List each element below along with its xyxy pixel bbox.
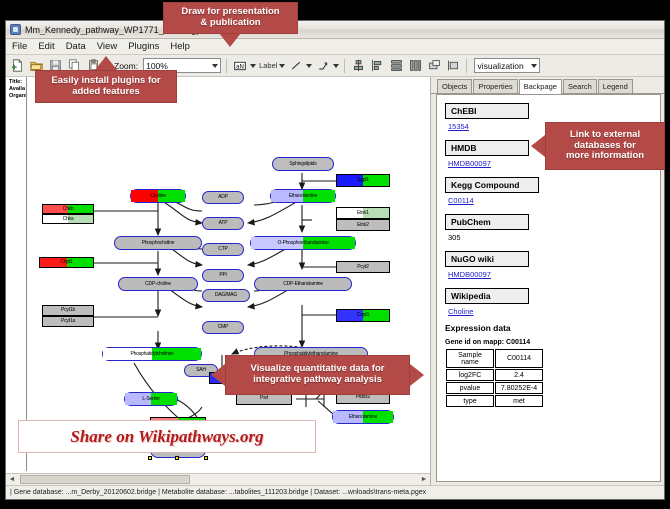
menu-item-plugins[interactable]: Plugins bbox=[127, 41, 160, 52]
expression-table: Sample name C00114 log2FC 2.4 pvalue 7.8… bbox=[445, 348, 544, 408]
node-label: DAG/MAG bbox=[203, 293, 249, 298]
node-label: Choline bbox=[131, 194, 185, 199]
cell-value: 7.80252E-4 bbox=[495, 382, 543, 394]
label-dropdown[interactable]: Label bbox=[259, 61, 285, 70]
tab-search[interactable]: Search bbox=[563, 79, 597, 93]
section-title-kegg: Kegg Compound bbox=[445, 177, 539, 193]
callout-link-arrow-icon bbox=[531, 135, 545, 157]
callout-visualize-arrow-right-icon bbox=[410, 364, 424, 386]
resize-handle[interactable] bbox=[175, 456, 179, 460]
callout-visualize-quantitative-data: Visualize quantitative data for integrat… bbox=[225, 355, 410, 395]
node-label: CDP-choline bbox=[119, 282, 197, 287]
callout-line-2: integrative pathway analysis bbox=[251, 375, 385, 386]
node-label: CDP-Ethanolamine bbox=[255, 282, 351, 287]
title-bar: Mm_Kennedy_pathway_WP1771_45176.gpml - P… bbox=[6, 21, 664, 39]
cell-key: Sample name bbox=[446, 349, 494, 368]
pubchem-value: 305 bbox=[448, 233, 660, 242]
align-left-icon[interactable] bbox=[369, 58, 385, 74]
tab-properties[interactable]: Properties bbox=[473, 79, 517, 93]
distribute-vertical-icon[interactable] bbox=[388, 58, 404, 74]
node-label: Chkb bbox=[43, 207, 93, 212]
node-label: ADP bbox=[203, 195, 243, 200]
scroll-right-arrow[interactable]: ► bbox=[418, 476, 430, 483]
callout-share-on-wikipathways: Share on Wikipathways.org bbox=[18, 420, 316, 453]
line-tool-dropdown[interactable] bbox=[288, 58, 312, 74]
metabolite-node-adp[interactable]: ADP bbox=[202, 191, 244, 204]
metabolite-node-cmp[interactable]: CMP bbox=[202, 321, 244, 334]
node-label: Cept1 bbox=[337, 313, 389, 318]
callout-plugins-arrow-icon bbox=[95, 56, 117, 70]
cell-key: log2FC bbox=[446, 369, 494, 381]
nugo-link[interactable]: HMDB00097 bbox=[448, 270, 660, 279]
gene-node-pcyt2[interactable]: Pcyt2 bbox=[336, 261, 390, 273]
expression-data-heading: Expression data bbox=[445, 323, 660, 333]
section-title-chebi: ChEBI bbox=[445, 103, 529, 119]
table-row: type met bbox=[446, 395, 543, 407]
datanode-dropdown[interactable]: aN bbox=[232, 58, 256, 74]
callout-draw-for-presentation: Draw for presentation & publication bbox=[163, 2, 298, 34]
data-node-icon: aN bbox=[232, 58, 248, 74]
metabolite-node[interactable]: Sphingolipids bbox=[272, 157, 334, 171]
status-bar: | Gene database: ...m_Derby_20120602.bri… bbox=[6, 485, 664, 499]
metabolite-node-cdp-choline[interactable]: CDP-choline bbox=[118, 277, 198, 291]
metabolite-node-cdp-ethanolamine[interactable]: CDP-Ethanolamine bbox=[254, 277, 352, 291]
node-label: Chka bbox=[43, 217, 93, 222]
chevron-down-icon bbox=[212, 64, 218, 68]
menu-item-edit[interactable]: Edit bbox=[37, 41, 55, 52]
cell-value: C00114 bbox=[495, 349, 543, 368]
node-label: PPi bbox=[203, 273, 243, 278]
section-title-pubchem: PubChem bbox=[445, 214, 529, 230]
menu-item-help[interactable]: Help bbox=[169, 41, 191, 52]
node-label: ATP bbox=[203, 221, 243, 226]
gene-node-etnk2[interactable]: Etnk2 bbox=[336, 219, 390, 231]
metabolite-node-ethanolamine[interactable]: Ethanolamine bbox=[270, 189, 336, 203]
app-icon bbox=[10, 24, 21, 35]
callout-visualize-arrow-left-icon bbox=[211, 364, 225, 386]
visualization-value: visualization bbox=[477, 61, 523, 71]
line-tool-icon bbox=[288, 58, 304, 74]
node-label: L-Serine bbox=[125, 397, 177, 402]
scroll-left-arrow[interactable]: ◄ bbox=[6, 476, 18, 483]
metabolite-node-l-serine-left[interactable]: L-Serine bbox=[124, 392, 178, 406]
toolbar-separator bbox=[226, 59, 227, 73]
gene-id-on-mapp: Gene id on mapp: C00114 bbox=[445, 339, 660, 346]
gene-node-sgpl1[interactable]: Sgpl1 bbox=[336, 174, 390, 187]
node-label: Pcyt2 bbox=[337, 265, 389, 270]
node-label: Psd bbox=[237, 396, 291, 401]
toolbar-separator bbox=[466, 59, 467, 73]
callout-easily-install-plugins: Easily install plugins for added feature… bbox=[35, 70, 177, 103]
screenshot-root: Mm_Kennedy_pathway_WP1771_45176.gpml - P… bbox=[0, 0, 670, 509]
metabolite-node-ppi[interactable]: PPi bbox=[202, 269, 244, 282]
cell-value: 2.4 bbox=[495, 369, 543, 381]
menu-item-data[interactable]: Data bbox=[65, 41, 87, 52]
align-center-icon[interactable] bbox=[350, 58, 366, 74]
menu-bar: File Edit Data View Plugins Help bbox=[6, 39, 664, 55]
send-to-back-icon[interactable] bbox=[445, 58, 461, 74]
node-label: Sgpl1 bbox=[337, 178, 389, 183]
table-row: log2FC 2.4 bbox=[446, 369, 543, 381]
gene-node-chpt1[interactable]: Chpt1 bbox=[39, 257, 94, 268]
node-label: O-Phosphoethanolamine bbox=[251, 241, 355, 246]
side-panel-tabs: Objects Properties Backpage Search Legen… bbox=[431, 77, 664, 94]
toolbar-separator bbox=[344, 59, 345, 73]
menu-item-view[interactable]: View bbox=[96, 41, 118, 52]
node-label: Chpt1 bbox=[40, 260, 93, 265]
callout-line-2: added features bbox=[51, 87, 160, 98]
wikipedia-link[interactable]: Choline bbox=[448, 307, 660, 316]
cell-key: pvalue bbox=[446, 382, 494, 394]
callout-link-to-external-databases: Link to external databases for more info… bbox=[545, 122, 665, 170]
resize-handle[interactable] bbox=[204, 456, 208, 460]
common-width-icon[interactable] bbox=[407, 58, 423, 74]
metabolite-node-o-phosphoethanolamine[interactable]: O-Phosphoethanolamine bbox=[250, 236, 356, 250]
metabolite-node-choline[interactable]: Choline bbox=[130, 189, 186, 203]
metabolite-node-ethanolamine-bottom[interactable]: Ethanolamine bbox=[332, 410, 394, 424]
metabolite-node-dagmag[interactable]: DAG/MAG bbox=[202, 289, 250, 302]
kegg-link[interactable]: C00114 bbox=[448, 196, 660, 205]
node-label: Etnk2 bbox=[337, 223, 389, 228]
table-row: pvalue 7.80252E-4 bbox=[446, 382, 543, 394]
chevron-down-icon bbox=[279, 64, 285, 68]
gene-node-chkb[interactable]: Chkb bbox=[42, 204, 94, 214]
node-label: Phosphocholine bbox=[115, 241, 201, 246]
chevron-down-icon bbox=[531, 64, 537, 68]
bring-to-front-icon[interactable] bbox=[426, 58, 442, 74]
callout-line-3: more information bbox=[566, 151, 644, 162]
tab-legend[interactable]: Legend bbox=[598, 79, 633, 93]
node-label: Phosphatidylcholines bbox=[103, 352, 201, 357]
node-label: CTP bbox=[203, 247, 243, 252]
node-label: CMP bbox=[203, 325, 243, 330]
callout-line-2: & publication bbox=[181, 18, 279, 29]
gene-node-pcyt1b[interactable]: Pcyt1b bbox=[42, 305, 94, 316]
node-label: Ethanolamine bbox=[333, 415, 393, 420]
status-text: | Gene database: ...m_Derby_20120602.bri… bbox=[10, 489, 426, 496]
metabolite-node-phosphocholine[interactable]: Phosphocholine bbox=[114, 236, 202, 250]
visualization-combo[interactable]: visualization bbox=[474, 58, 540, 73]
new-document-icon[interactable] bbox=[9, 58, 25, 74]
callout-draw-arrow-icon bbox=[219, 33, 241, 47]
canvas-hscrollbar[interactable]: ◄ ► bbox=[6, 473, 430, 485]
label-dropdown-label: Label bbox=[259, 61, 277, 70]
metabolite-node-phosphatidylcholines[interactable]: Phosphatidylcholines bbox=[102, 347, 202, 361]
chevron-down-icon bbox=[250, 64, 256, 68]
tab-objects[interactable]: Objects bbox=[437, 79, 472, 93]
section-title-hmdb: HMDB bbox=[445, 140, 529, 156]
chevron-down-icon bbox=[306, 64, 312, 68]
menu-item-file[interactable]: File bbox=[11, 41, 28, 52]
node-label: Pcyt1b bbox=[43, 308, 93, 313]
chevron-down-icon bbox=[333, 64, 339, 68]
interaction-tool-icon bbox=[315, 58, 331, 74]
gene-node-cept1[interactable]: Cept1 bbox=[336, 309, 390, 322]
section-title-wikipedia: Wikipedia bbox=[445, 288, 529, 304]
section-title-nugo: NuGO wiki bbox=[445, 251, 529, 267]
node-label: Pcyt1a bbox=[43, 319, 93, 324]
callout-line-1: Easily install plugins for bbox=[51, 76, 160, 87]
gene-node-chka[interactable]: Chka bbox=[42, 214, 94, 224]
metabolite-node-atp[interactable]: ATP bbox=[202, 217, 244, 230]
resize-handle[interactable] bbox=[148, 456, 152, 460]
node-label: Ptdss2 bbox=[337, 395, 389, 400]
metabolite-node-ctp[interactable]: CTP bbox=[202, 243, 244, 256]
interaction-tool-dropdown[interactable] bbox=[315, 58, 339, 74]
share-text: Share on Wikipathways.org bbox=[70, 427, 263, 447]
tab-backpage[interactable]: Backpage bbox=[519, 79, 562, 94]
zoom-label: Zoom: bbox=[114, 61, 138, 71]
node-label: Ethanolamine bbox=[271, 194, 335, 199]
table-row: Sample name C00114 bbox=[446, 349, 543, 368]
node-label: Etnk1 bbox=[337, 211, 389, 216]
hscroll-thumb[interactable] bbox=[20, 475, 190, 484]
zoom-value: 100% bbox=[146, 61, 168, 71]
cell-value: met bbox=[495, 395, 543, 407]
cell-key: type bbox=[446, 395, 494, 407]
node-label: Sphingolipids bbox=[273, 162, 333, 167]
gene-node-pcyt1a[interactable]: Pcyt1a bbox=[42, 316, 94, 327]
svg-text:aN: aN bbox=[236, 64, 244, 70]
gene-node-etnk1[interactable]: Etnk1 bbox=[336, 207, 390, 219]
